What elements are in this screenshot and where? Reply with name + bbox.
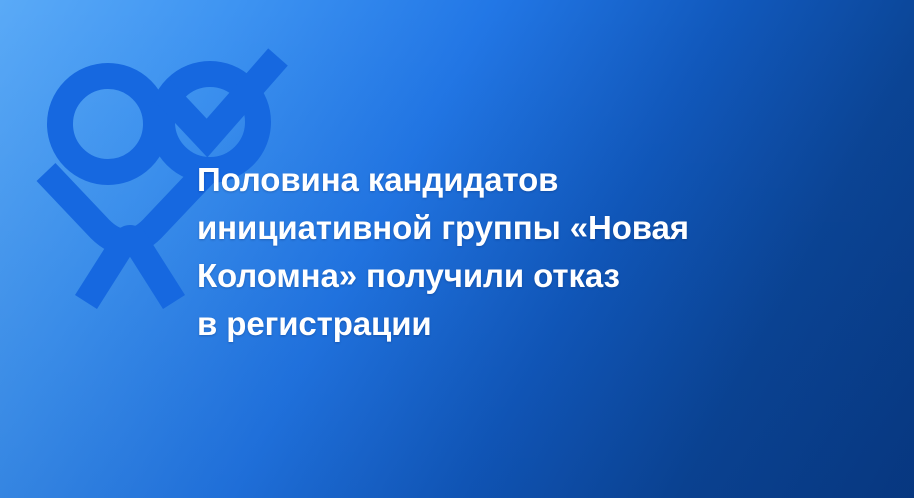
left-eye-ring-icon bbox=[60, 76, 156, 172]
legs-chevron-icon bbox=[86, 238, 174, 302]
news-banner: Половина кандидатов инициативной группы … bbox=[0, 0, 914, 498]
headline-line-2: инициативной группы «Новая bbox=[197, 204, 837, 252]
headline-line-1: Половина кандидатов bbox=[197, 156, 837, 204]
headline-line-3: Коломна» получили отказ bbox=[197, 252, 837, 300]
headline: Половина кандидатов инициативной группы … bbox=[197, 156, 837, 348]
headline-line-4: в регистрации bbox=[197, 300, 837, 348]
